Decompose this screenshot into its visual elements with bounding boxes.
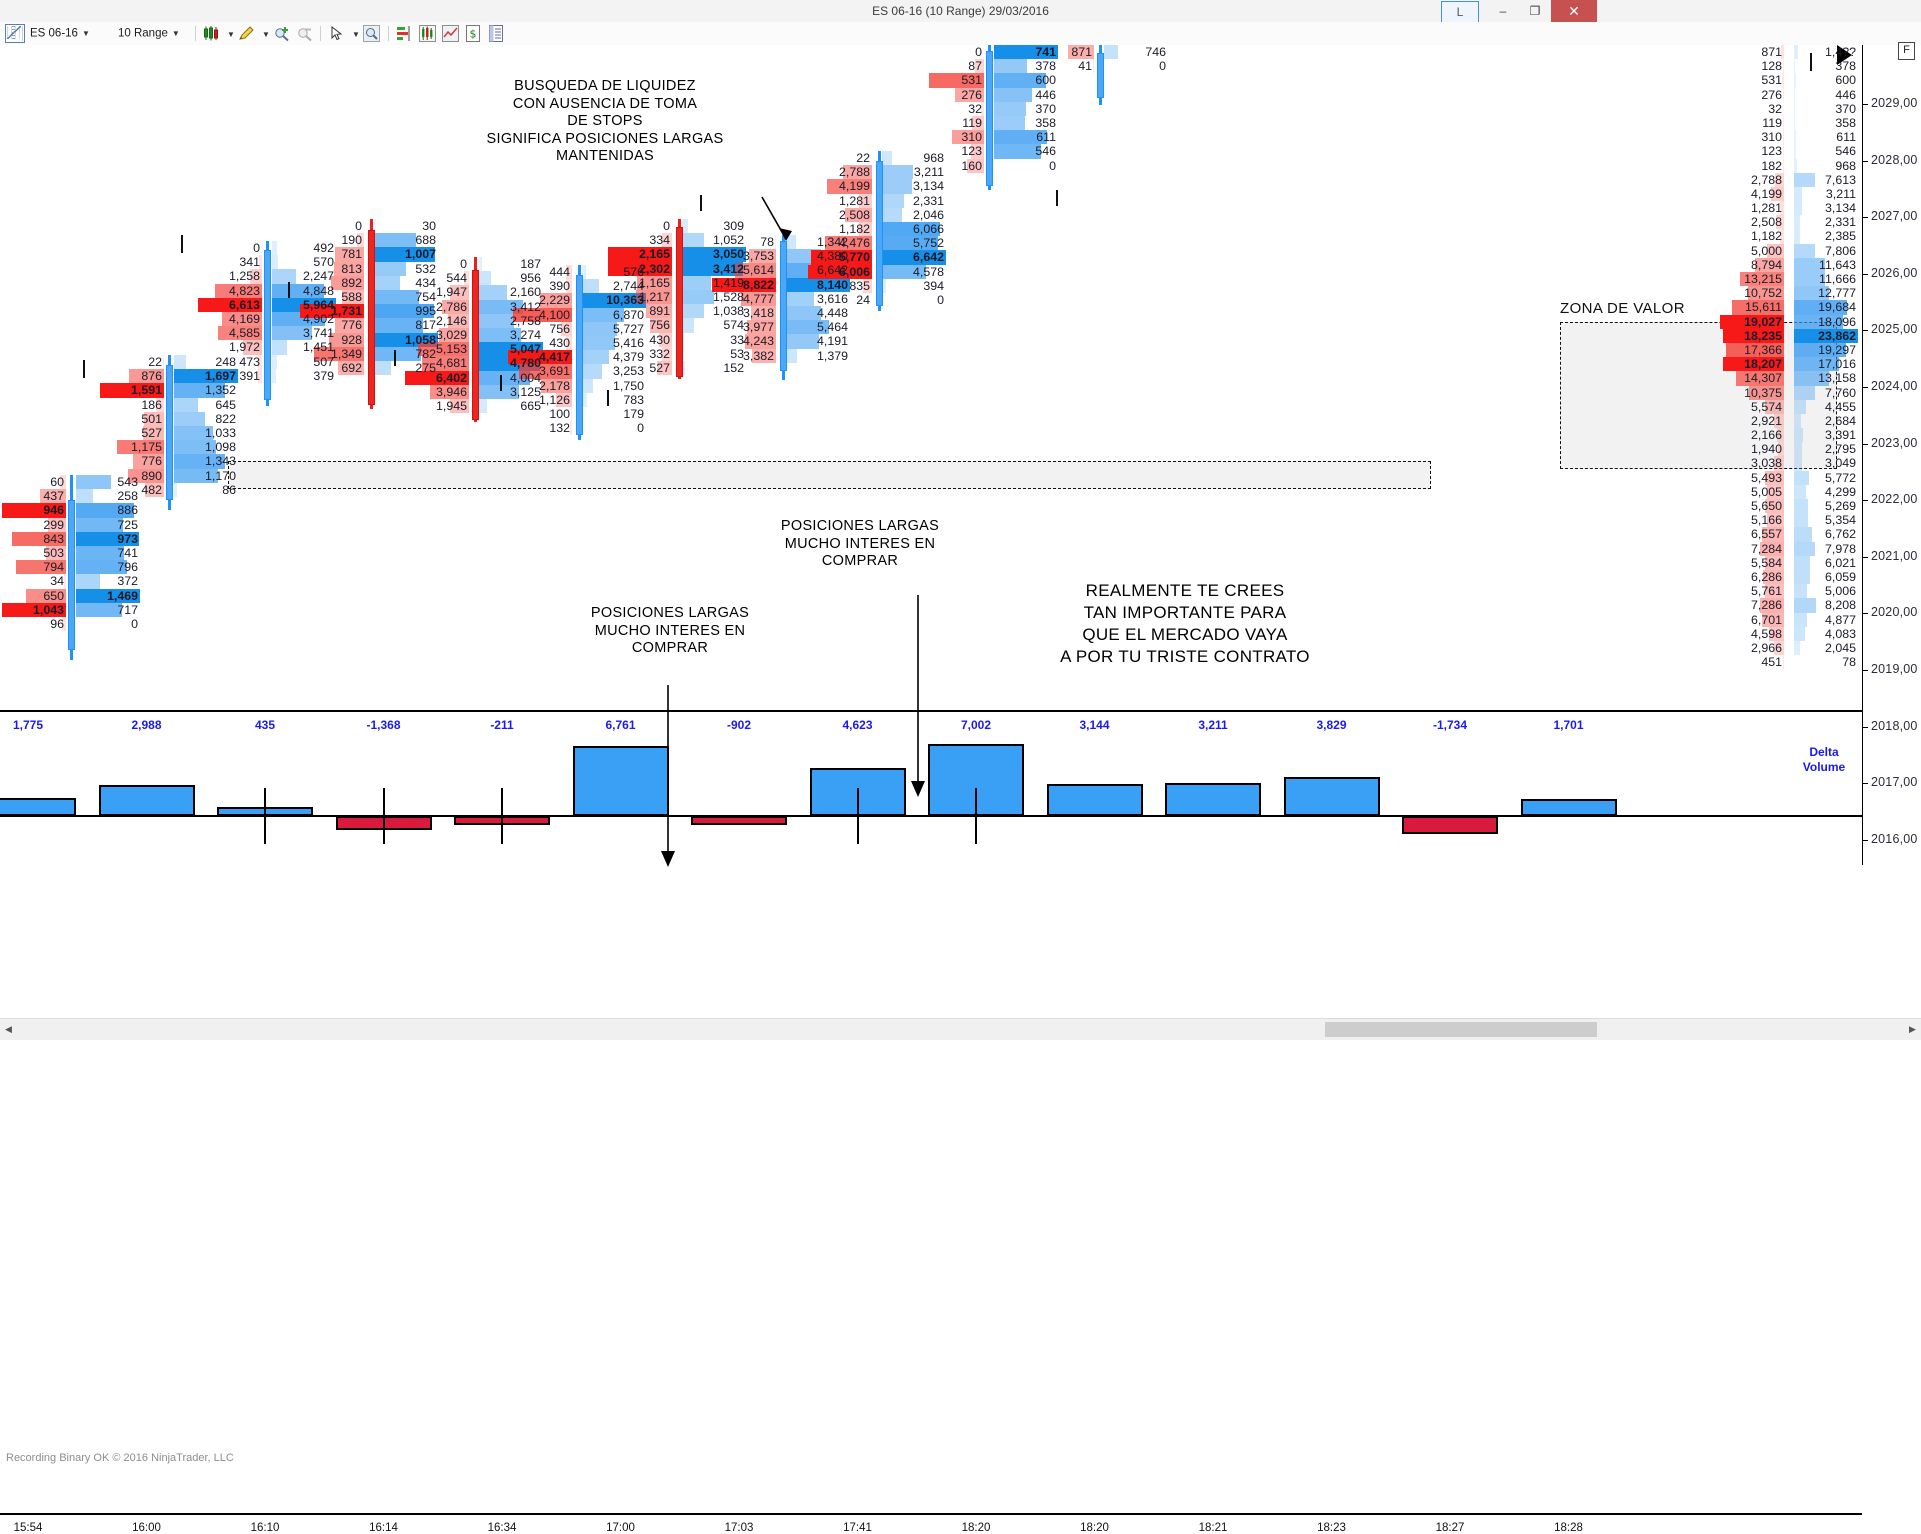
ask-value: 5,006 [1825, 584, 1858, 598]
ask-volume-bar [479, 285, 507, 299]
ask-cell: 5,964 [272, 298, 336, 312]
bid-cell: 437 [2, 489, 66, 503]
bid-value: 527 [141, 426, 164, 440]
bid-value: 4,598 [1751, 627, 1784, 641]
ask-volume-bar [786, 306, 821, 320]
maximize-button[interactable]: ❐ [1519, 0, 1551, 22]
ask-value: 1,352 [205, 383, 238, 397]
bid-value: 6,402 [436, 371, 469, 385]
bid-cell: 6,613 [198, 298, 262, 312]
ask-value: 754 [415, 290, 438, 304]
ask-cell: 1,469 [76, 589, 140, 603]
ask-value: 378 [1835, 59, 1858, 73]
chart-canvas[interactable]: F 2029,002028,002027,002026,002025,00202… [0, 45, 1921, 1018]
bid-value: 1,349 [331, 347, 364, 361]
chevron-down-icon[interactable]: ▼ [227, 30, 235, 39]
bid-value: 6,006 [839, 265, 872, 279]
delta-volume-bar[interactable] [1402, 816, 1498, 834]
ask-volume-bar [1794, 116, 1795, 130]
ask-value: 600 [1835, 73, 1858, 87]
bid-value: 5,153 [436, 342, 469, 356]
bid-value: 2,178 [539, 379, 572, 393]
ask-cell: 4,455 [1794, 400, 1858, 414]
ask-value: 783 [623, 393, 646, 407]
bid-value: 0 [355, 219, 364, 233]
ask-value: 532 [415, 262, 438, 276]
ask-value: 379 [313, 369, 336, 383]
ask-value: 19,684 [1818, 300, 1858, 314]
delta-volume-label: 3,211 [1165, 718, 1261, 732]
ask-cell: 600 [994, 73, 1058, 87]
delta-volume-pane[interactable]: 1,7752,988435-1,368-2116,761-9024,6237,0… [0, 710, 1862, 865]
strategies-icon[interactable] [442, 25, 459, 42]
time-axis-label: 16:00 [132, 1522, 161, 1534]
price-tick-label: 2016,00 [1871, 832, 1918, 846]
ask-value: 3,616 [817, 292, 850, 306]
ask-cell: 378 [994, 59, 1058, 73]
bid-cell: 1,945 [405, 399, 469, 413]
bid-value: 310 [961, 130, 984, 144]
ask-value: 2,684 [1825, 414, 1858, 428]
ask-cell: 3,412 [479, 300, 543, 314]
bid-value: 544 [446, 271, 469, 285]
chevron-down-icon[interactable]: ▼ [352, 30, 360, 39]
ask-volume-bar [1794, 229, 1800, 243]
bid-value: 3,753 [743, 249, 776, 263]
ask-value: 6,059 [1825, 570, 1858, 584]
bid-value: 14,307 [1744, 371, 1784, 385]
ask-volume-bar [374, 233, 416, 247]
zoom-in-icon[interactable] [273, 25, 290, 42]
ask-volume-bar [479, 271, 491, 285]
bid-value: 1,217 [639, 290, 672, 304]
ask-volume-bar [1794, 414, 1801, 428]
ask-cell: 0 [76, 617, 140, 631]
bid-cell: 527 [100, 426, 164, 440]
bid-value: 4,823 [229, 284, 262, 298]
zoom-out-icon[interactable] [296, 25, 313, 42]
ask-volume-bar [1794, 527, 1812, 541]
bid-cell: 876 [100, 369, 164, 383]
indicators-icon[interactable] [419, 25, 436, 42]
bid-cell: 14,307 [1720, 371, 1784, 385]
ask-value: 782 [415, 347, 438, 361]
delta-volume-bar[interactable] [99, 785, 195, 816]
bid-value: 7,286 [1751, 598, 1784, 612]
ask-cell: 5,416 [582, 336, 646, 350]
ask-volume-bar [1794, 201, 1802, 215]
bid-value: 4,100 [539, 308, 572, 322]
bid-value: 1,731 [331, 304, 364, 318]
ask-value: 1,528 [713, 290, 746, 304]
bid-cell: 5,761 [1720, 584, 1784, 598]
ask-volume-bar [1794, 159, 1797, 173]
ask-value: 434 [415, 276, 438, 290]
ask-value: 6,762 [1825, 527, 1858, 541]
bid-value: 527 [649, 361, 672, 375]
delta-volume-label: 6,761 [573, 718, 669, 732]
ask-value: 7,806 [1825, 244, 1858, 258]
delta-volume-bar[interactable] [1047, 784, 1143, 816]
ask-volume-bar [374, 262, 406, 276]
ask-cell: 717 [76, 603, 140, 617]
bid-cell: 1,182 [1720, 229, 1784, 243]
ask-cell: 5,354 [1794, 513, 1858, 527]
time-axis-label: 18:27 [1436, 1522, 1465, 1534]
ask-volume-bar [272, 255, 278, 269]
bid-value: 4,777 [743, 292, 776, 306]
price-tick-mark [83, 360, 85, 378]
ask-value: 3,050 [713, 247, 746, 261]
ask-cell: 11,666 [1794, 272, 1858, 286]
ask-volume-bar [174, 483, 177, 497]
ask-cell: 5,464 [786, 320, 850, 334]
ask-cell: 86 [174, 483, 238, 497]
ask-volume-bar [882, 151, 892, 165]
delta-volume-bar[interactable] [1165, 783, 1261, 816]
ask-cell: 2,046 [882, 208, 946, 222]
bid-value: 6,701 [1751, 613, 1784, 627]
ask-value: 187 [520, 257, 543, 271]
bid-cell: 186 [100, 398, 164, 412]
ask-cell: 968 [1794, 159, 1858, 173]
ask-cell: 13,158 [1794, 371, 1858, 385]
bid-value: 2,786 [436, 300, 469, 314]
ask-cell: 2,744 [582, 279, 646, 293]
delta-volume-label: 1,701 [1521, 718, 1617, 732]
bid-cell: 7,284 [1720, 542, 1784, 556]
ask-value: 2,331 [1825, 215, 1858, 229]
ask-cell: 7,613 [1794, 173, 1858, 187]
price-tick-label: 2019,00 [1871, 662, 1918, 676]
ask-cell: 6,066 [882, 222, 946, 236]
ask-volume-bar [1794, 144, 1796, 158]
bid-value: 19,027 [1744, 315, 1784, 329]
bid-cell: 2,508 [808, 208, 872, 222]
ask-value: 1,052 [713, 233, 746, 247]
delta-volume-title-line1: Delta [1788, 745, 1860, 760]
time-axis-label: 18:20 [1080, 1522, 1109, 1534]
price-format-badge[interactable]: F [1898, 42, 1915, 60]
ask-cell: 18,096 [1794, 315, 1858, 329]
ask-value: 995 [415, 304, 438, 318]
bid-cell: 6,557 [1720, 527, 1784, 541]
bid-value: 18,235 [1744, 329, 1784, 343]
ask-volume-bar [994, 59, 1027, 73]
bid-value: 119 [962, 116, 984, 130]
price-tick [1862, 727, 1868, 728]
ask-cell: 1,750 [582, 379, 646, 393]
bid-value: 437 [43, 489, 66, 503]
bid-value: 503 [43, 546, 66, 560]
interval-label: 10 Range [118, 28, 168, 40]
bid-cell: 794 [2, 560, 66, 574]
bid-cell: 276 [920, 88, 984, 102]
bid-value: 334 [649, 233, 672, 247]
ask-value: 973 [117, 532, 140, 546]
candle-type-icon[interactable] [203, 25, 220, 42]
delta-volume-bar[interactable] [0, 798, 76, 816]
bid-value: 5,770 [839, 250, 872, 264]
bid-cell: 1,281 [808, 194, 872, 208]
price-tick [1862, 840, 1868, 841]
ask-volume-bar [994, 88, 1032, 102]
chevron-down-icon[interactable]: ▼ [262, 30, 270, 39]
ask-cell: 19,297 [1794, 343, 1858, 357]
ask-cell: 688 [374, 233, 438, 247]
price-tick-label: 2022,00 [1871, 492, 1918, 506]
ask-value: 492 [313, 241, 336, 255]
ask-value: 3,049 [1825, 456, 1858, 470]
ask-value: 0 [637, 421, 646, 435]
ask-cell: 394 [882, 279, 946, 293]
ask-volume-bar [76, 574, 100, 588]
ask-cell: 2,684 [1794, 414, 1858, 428]
bid-value: 4,199 [839, 179, 872, 193]
interval-selector[interactable]: 10 Range▼ [118, 22, 180, 45]
bid-cell: 13,215 [1720, 272, 1784, 286]
ask-value: 968 [923, 151, 946, 165]
ask-cell: 796 [76, 560, 140, 574]
ask-value: 1,098 [205, 440, 238, 454]
draw-pencil-icon[interactable] [238, 25, 255, 42]
bid-cell: 3,038 [1720, 456, 1784, 470]
ask-value: 2,795 [1825, 442, 1858, 456]
price-tick-label: 2026,00 [1871, 266, 1918, 280]
ask-value: 11,666 [1819, 272, 1858, 286]
ask-cell: 372 [76, 574, 140, 588]
ask-volume-bar [682, 290, 714, 304]
delta-volume-bar[interactable] [1521, 799, 1617, 816]
ask-cell: 179 [582, 407, 646, 421]
ask-cell: 725 [76, 518, 140, 532]
bid-value: 5,000 [1751, 244, 1784, 258]
ask-volume-bar [682, 276, 711, 290]
ask-volume-bar [1794, 215, 1800, 229]
ask-volume-bar [1794, 584, 1807, 598]
bid-cell: 6,286 [1720, 570, 1784, 584]
ask-volume-bar [1794, 627, 1805, 641]
ask-value: 1,007 [405, 247, 438, 261]
horizontal-scrollbar[interactable]: ◀ ▶ [0, 1018, 1921, 1040]
ask-value: 1,697 [205, 369, 238, 383]
ask-volume-bar [272, 369, 276, 383]
ask-cell: 611 [994, 130, 1058, 144]
bid-cell: 4,598 [1720, 627, 1784, 641]
ask-cell: 3,125 [479, 385, 543, 399]
layout-button[interactable]: L [1441, 1, 1479, 23]
bid-value: 891 [649, 304, 672, 318]
scroll-right-icon[interactable]: ▶ [1904, 1019, 1921, 1040]
ask-value: 4,299 [1825, 485, 1858, 499]
bid-cell: 0 [608, 219, 672, 233]
price-bar-body [876, 161, 883, 306]
bid-value: 18,207 [1744, 357, 1784, 371]
ask-volume-bar [174, 355, 186, 369]
ask-value: 688 [415, 233, 438, 247]
scrollbar-thumb[interactable] [1325, 1022, 1597, 1037]
ask-value: 78 [1842, 655, 1858, 669]
bid-cell: 19,027 [1720, 315, 1784, 329]
ask-cell: 10,363 [582, 293, 646, 307]
ask-value: 2,385 [1825, 229, 1858, 243]
bid-value: 15,611 [1745, 300, 1784, 314]
bid-value: 3,691 [539, 364, 572, 378]
bid-cell: 5,000 [1720, 244, 1784, 258]
ask-value: 1,033 [205, 426, 238, 440]
bid-cell: 650 [2, 589, 66, 603]
delta-volume-label: 2,988 [99, 718, 195, 732]
bid-value: 6,613 [229, 298, 262, 312]
ask-volume-bar [1794, 499, 1808, 513]
ask-cell: 152 [682, 361, 746, 375]
toolbar-separator [22, 26, 23, 41]
ask-cell: 746 [1104, 45, 1168, 59]
ask-cell: 3,050 [682, 247, 746, 261]
price-tick-mark [394, 350, 396, 366]
price-tick [1862, 104, 1868, 105]
annotation-largas-1: POSICIONES LARGAS MUCHO INTERES EN COMPR… [540, 605, 800, 658]
ask-volume-bar [1794, 88, 1795, 102]
ask-value: 611 [1836, 130, 1858, 144]
bid-cell: 119 [1720, 116, 1784, 130]
chart-toolbar: ES 06-16▼ 10 Range▼ ▼ ▼ [0, 22, 1921, 46]
ask-volume-bar [1794, 428, 1803, 442]
price-bar-body [1097, 53, 1104, 98]
scroll-left-icon[interactable]: ◀ [0, 1019, 17, 1040]
account-icon[interactable]: $ [465, 25, 482, 42]
price-tick-label: 2029,00 [1871, 96, 1918, 110]
bid-value: 692 [341, 361, 364, 375]
ask-value: 378 [1035, 59, 1058, 73]
bid-value: 4,476 [839, 236, 872, 250]
ask-value: 3,412 [713, 262, 746, 276]
ask-cell: 5,727 [582, 322, 646, 336]
ask-value: 2,046 [913, 208, 946, 222]
minimize-button[interactable]: – [1487, 0, 1519, 22]
bid-cell: 10,375 [1720, 386, 1784, 400]
delta-volume-wick [383, 788, 385, 844]
ask-volume-bar [1794, 386, 1815, 400]
toolbar-drag-handle[interactable] [12, 26, 15, 41]
svg-text:$: $ [470, 28, 477, 41]
bid-value: 1,258 [229, 269, 262, 283]
delta-volume-bar[interactable] [691, 816, 787, 825]
magnifier-icon[interactable] [363, 25, 380, 42]
toolbar-separator [388, 26, 389, 41]
ask-value: 2,045 [1825, 641, 1858, 655]
ask-cell: 1,451 [272, 340, 336, 354]
ask-value: 1,343 [205, 454, 238, 468]
ask-value: 5,354 [1825, 513, 1858, 527]
bid-cell: 87 [920, 59, 984, 73]
bid-value: 650 [43, 589, 66, 603]
price-tick-mark [1056, 190, 1058, 206]
ask-cell: 1,038 [682, 304, 746, 318]
ask-volume-bar [582, 364, 602, 378]
price-bar-body [986, 51, 993, 186]
bid-value: 32 [1768, 102, 1784, 116]
ask-value: 0 [1159, 59, 1168, 73]
data-series-icon[interactable] [396, 25, 413, 42]
bid-value: 5,493 [1751, 471, 1784, 485]
ask-volume-bar [272, 355, 277, 369]
ask-cell: 7,806 [1794, 244, 1858, 258]
bid-cell: 3,946 [405, 385, 469, 399]
ask-cell: 3,412 [682, 262, 746, 276]
ask-value: 2,331 [913, 194, 946, 208]
bid-cell: 843 [2, 532, 66, 546]
bid-cell: 5,166 [1720, 513, 1784, 527]
bid-cell: 299 [2, 518, 66, 532]
ask-cell: 3,253 [582, 364, 646, 378]
price-tick-mark [500, 375, 502, 391]
cursor-select-icon[interactable] [328, 25, 345, 42]
bid-cell: 7,286 [1720, 598, 1784, 612]
ask-value: 886 [117, 503, 140, 517]
bid-value: 41 [1078, 59, 1094, 73]
ask-volume-bar [479, 257, 482, 271]
time-axis-label: 18:20 [962, 1522, 991, 1534]
bid-cell: 10,752 [1720, 286, 1784, 300]
ask-volume-bar [786, 334, 819, 348]
properties-icon[interactable] [488, 25, 505, 42]
bid-value: 4,199 [1751, 187, 1784, 201]
bid-value: 430 [549, 336, 572, 350]
bid-value: 794 [43, 560, 66, 574]
bid-cell: 1,182 [808, 222, 872, 236]
watermark: Recording Binary OK © 2016 NinjaTrader, … [6, 1452, 234, 1464]
ask-value: 746 [1145, 45, 1168, 59]
ask-value: 5,752 [913, 236, 946, 250]
ask-cell: 8,208 [1794, 598, 1858, 612]
delta-volume-bar[interactable] [573, 746, 669, 816]
bid-value: 60 [50, 475, 66, 489]
ask-cell: 968 [882, 151, 946, 165]
window-title: ES 06-16 (10 Range) 29/03/2016 [0, 0, 1921, 22]
price-tick-mark [1810, 53, 1812, 71]
ask-value: 1,170 [205, 469, 238, 483]
bid-cell: 2,508 [1720, 215, 1784, 229]
bid-cell: 276 [1720, 88, 1784, 102]
ask-value: 796 [117, 560, 140, 574]
bid-value: 2,166 [1751, 428, 1784, 442]
bid-value: 391 [239, 369, 262, 383]
bid-value: 119 [1762, 116, 1784, 130]
delta-volume-label: -211 [454, 718, 550, 732]
ask-value: 3,741 [303, 326, 336, 340]
ask-cell: 8,140 [786, 278, 850, 292]
ask-cell: 1,058 [374, 333, 438, 347]
bid-cell: 946 [2, 503, 66, 517]
bid-cell: 451 [1720, 655, 1784, 669]
ask-cell: 886 [76, 503, 140, 517]
bid-cell: 1,940 [1720, 442, 1784, 456]
bid-cell: 0 [920, 45, 984, 59]
delta-volume-bar[interactable] [1284, 777, 1380, 816]
bid-value: 2,788 [1751, 173, 1784, 187]
time-axis-label: 16:34 [488, 1522, 517, 1534]
close-button[interactable]: ✕ [1551, 0, 1597, 22]
bid-value: 876 [141, 369, 164, 383]
ask-value: 17,016 [1818, 357, 1858, 371]
bid-value: 100 [549, 407, 572, 421]
bid-value: 87 [968, 59, 984, 73]
instrument-selector[interactable]: ES 06-16▼ [30, 22, 90, 45]
ask-cell: 6,059 [1794, 570, 1858, 584]
bid-value: 1,182 [839, 222, 872, 236]
bid-cell: 4,199 [1720, 187, 1784, 201]
